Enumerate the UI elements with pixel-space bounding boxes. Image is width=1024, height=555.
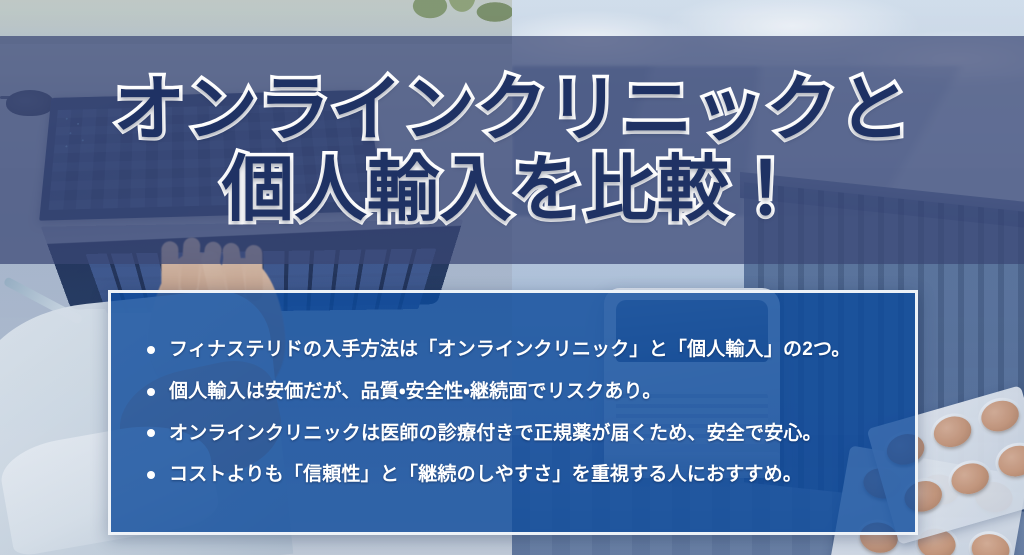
summary-bullet-1: フィナステリドの入手方法は「オンラインクリニック」と「個人輸入」の2つ。	[133, 338, 889, 362]
headline-line-1: オンラインクリニックと	[113, 72, 911, 148]
summary-bullet-3: オンラインクリニックは医師の診療付きで正規薬が届くため、安全で安心。	[133, 422, 889, 446]
summary-bullet-4: コストよりも「信頼性」と「継続のしやすさ」を重視する人におすすめ。	[133, 463, 889, 487]
summary-bullet-2: 個人輸入は安価だが、品質・安全性・継続面でリスクあり。	[133, 380, 889, 404]
summary-bullet-text: 個人輸入は安価だが、品質・安全性・継続面でリスクあり。	[169, 380, 662, 404]
bullet-dot-icon	[147, 346, 155, 354]
headline-line-2: 個人輸入を比較！	[222, 152, 802, 228]
bullet-dot-icon	[147, 388, 155, 396]
summary-box: フィナステリドの入手方法は「オンラインクリニック」と「個人輸入」の2つ。 個人輸…	[108, 290, 918, 535]
summary-bullet-text: コストよりも「信頼性」と「継続のしやすさ」を重視する人におすすめ。	[169, 463, 802, 487]
summary-bullet-text: オンラインクリニックは医師の診療付きで正規薬が届くため、安全で安心。	[169, 422, 822, 446]
headline: オンラインクリニックと 個人輸入を比較！	[0, 36, 1024, 264]
banner-image: オンラインクリニックと 個人輸入を比較！ フィナステリドの入手方法は「オンライン…	[0, 0, 1024, 555]
bullet-dot-icon	[147, 471, 155, 479]
bullet-dot-icon	[147, 429, 155, 437]
summary-bullet-text: フィナステリドの入手方法は「オンラインクリニック」と「個人輸入」の2つ。	[169, 338, 851, 362]
